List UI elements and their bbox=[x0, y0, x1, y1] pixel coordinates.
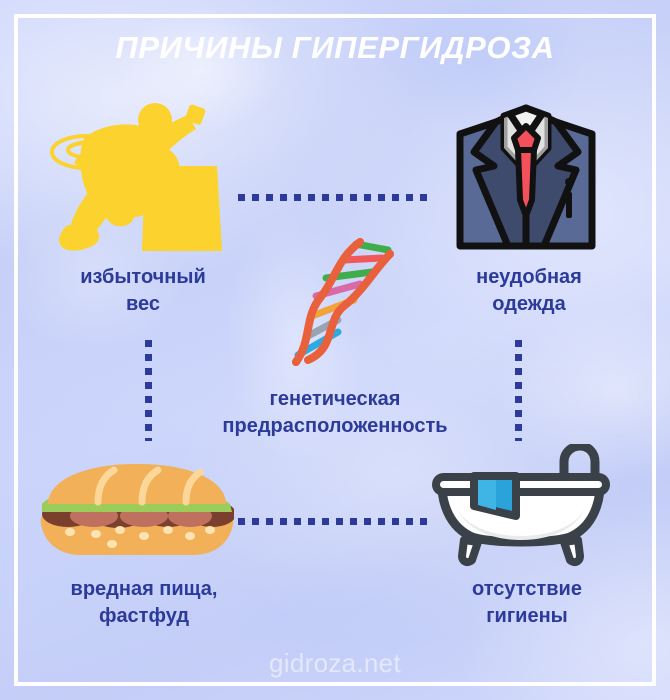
poster-title: ПРИЧИНЫ ГИПЕРГИДРОЗА bbox=[0, 30, 670, 66]
sandwich-icon bbox=[40, 462, 234, 558]
label-genetic: генетическая предрасположенность bbox=[130, 386, 540, 440]
suit-jacket-icon bbox=[452, 104, 600, 254]
overweight-person-icon bbox=[50, 103, 235, 255]
label-overweight: избыточный вес bbox=[18, 264, 268, 318]
infographic-poster: ПРИЧИНЫ ГИПЕРГИДРОЗА bbox=[0, 0, 670, 700]
watermark: gidroza.net bbox=[0, 648, 670, 679]
dna-helix-icon bbox=[282, 236, 406, 370]
connector-bottom-horizontal bbox=[238, 518, 434, 525]
bathtub-icon bbox=[432, 444, 610, 568]
label-clothing: неудобная одежда bbox=[404, 264, 654, 318]
connector-top-horizontal bbox=[238, 194, 434, 201]
label-poor-hygiene: отсутствие гигиены bbox=[400, 576, 654, 630]
label-junk-food: вредная пища, фастфуд bbox=[6, 576, 282, 630]
